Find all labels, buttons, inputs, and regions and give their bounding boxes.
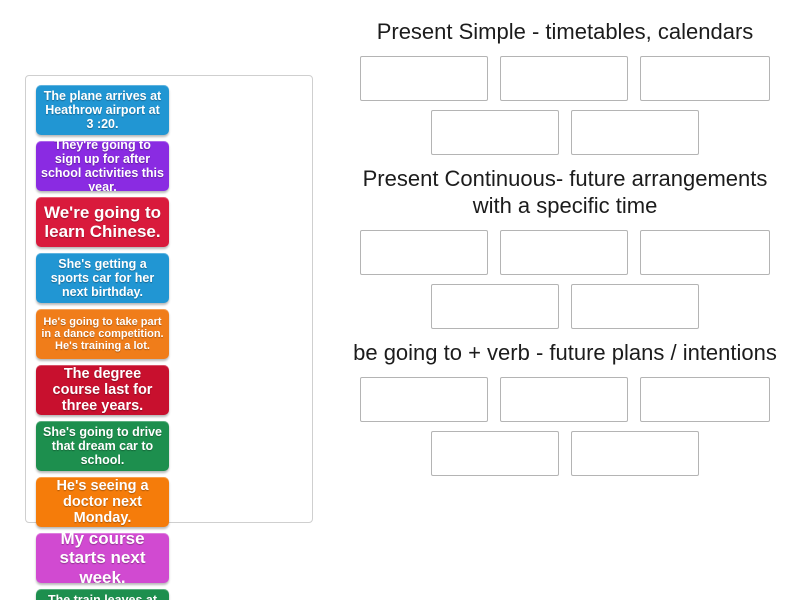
word-card-label: They're going to sign up for after schoo… (41, 141, 164, 191)
drop-slot[interactable] (431, 284, 559, 329)
drop-slot-row (340, 56, 790, 101)
drop-slot[interactable] (360, 230, 488, 275)
word-card-label: My course starts next week. (41, 533, 164, 583)
drop-slot[interactable] (500, 230, 628, 275)
word-card-label: The degree course last for three years. (41, 366, 164, 415)
group-sort-activity: The plane arrives at Heathrow airport at… (0, 0, 800, 600)
word-card[interactable]: She's getting a sports car for her next … (36, 253, 169, 303)
category-group: Present Continuous- future arrangements … (340, 165, 790, 329)
word-card[interactable]: He's going to take part in a dance compe… (36, 309, 169, 359)
drop-slot[interactable] (640, 56, 770, 101)
category-title: Present Simple - timetables, calendars (340, 18, 790, 46)
category-title: be going to + verb - future plans / inte… (340, 339, 790, 367)
drop-slot[interactable] (360, 56, 488, 101)
drop-slot-row (340, 431, 790, 476)
drop-slot-row (340, 110, 790, 155)
card-tray[interactable]: The plane arrives at Heathrow airport at… (25, 75, 313, 523)
word-card[interactable]: The plane arrives at Heathrow airport at… (36, 85, 169, 135)
category-groups: Present Simple - timetables, calendarsPr… (340, 18, 790, 584)
word-card-label: She's going to drive that dream car to s… (41, 425, 164, 467)
drop-slot[interactable] (571, 431, 699, 476)
drop-slot[interactable] (360, 377, 488, 422)
category-group: be going to + verb - future plans / inte… (340, 339, 790, 476)
word-card-label: The plane arrives at Heathrow airport at… (41, 89, 164, 131)
drop-slot[interactable] (571, 110, 699, 155)
word-card-label: She's getting a sports car for her next … (41, 257, 164, 299)
word-card[interactable]: He's seeing a doctor next Monday. (36, 477, 169, 527)
drop-slot[interactable] (431, 431, 559, 476)
category-title: Present Continuous- future arrangements … (340, 165, 790, 220)
word-card-label: He's going to take part in a dance compe… (41, 316, 164, 353)
drop-slot[interactable] (431, 110, 559, 155)
word-card[interactable]: She's going to drive that dream car to s… (36, 421, 169, 471)
drop-slot[interactable] (500, 377, 628, 422)
word-card-label: The train leaves at 8:15 from platform 6… (41, 593, 164, 600)
word-card-label: He's seeing a doctor next Monday. (41, 478, 164, 527)
word-card[interactable]: The degree course last for three years. (36, 365, 169, 415)
word-card[interactable]: The train leaves at 8:15 from platform 6… (36, 589, 169, 600)
drop-slot[interactable] (640, 230, 770, 275)
word-card[interactable]: My course starts next week. (36, 533, 169, 583)
word-card[interactable]: They're going to sign up for after schoo… (36, 141, 169, 191)
drop-slot[interactable] (500, 56, 628, 101)
drop-slot-row (340, 230, 790, 275)
drop-slot-row (340, 284, 790, 329)
drop-slot[interactable] (640, 377, 770, 422)
drop-slot-row (340, 377, 790, 422)
drop-slot[interactable] (571, 284, 699, 329)
word-card[interactable]: We're going to learn Chinese. (36, 197, 169, 247)
word-card-label: We're going to learn Chinese. (41, 203, 164, 241)
category-group: Present Simple - timetables, calendars (340, 18, 790, 155)
